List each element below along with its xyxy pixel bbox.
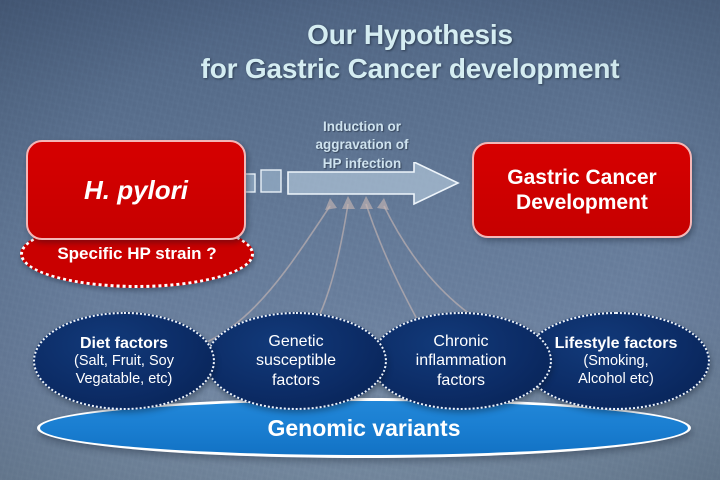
factor-diet-line-1: Diet factors bbox=[80, 334, 168, 354]
hpylori-box[interactable]: H. pylori bbox=[26, 140, 246, 240]
factor-ellipse-inflammation[interactable]: Chronic inflammation factors bbox=[370, 312, 552, 410]
arrow-dash-segment-1 bbox=[245, 174, 255, 192]
title-line-1: Our Hypothesis bbox=[100, 18, 720, 52]
factor-ellipse-diet[interactable]: Diet factors (Salt, Fruit, Soy Vegatable… bbox=[33, 312, 215, 410]
factor-lifestyle-line-3: Alcohol etc) bbox=[578, 371, 654, 389]
arrow-label-line-2: aggravation of bbox=[295, 136, 429, 154]
arrow-dash-segment-2 bbox=[261, 170, 281, 192]
factor-ellipse-genetic[interactable]: Genetic susceptible factors bbox=[205, 312, 387, 410]
factor-genetic-line-1: Genetic bbox=[268, 332, 323, 352]
arrow-label-line-3: HP infection bbox=[295, 155, 429, 173]
factor-diet-line-3: Vegatable, etc) bbox=[76, 371, 173, 389]
factor-inflammation-line-1: Chronic bbox=[433, 332, 488, 352]
factor-genetic-line-2: susceptible bbox=[256, 351, 336, 371]
factor-lifestyle-line-2: (Smoking, bbox=[583, 353, 648, 371]
factor-genetic-line-3: factors bbox=[272, 371, 320, 391]
factor-lifestyle-line-1: Lifestyle factors bbox=[555, 334, 678, 354]
cancer-box-line-1: Gastric Cancer bbox=[507, 165, 656, 190]
slide-canvas: Our Hypothesis for Gastric Cancer develo… bbox=[0, 0, 720, 480]
arrow-label-line-1: Induction or bbox=[295, 118, 429, 136]
cancer-box-line-2: Development bbox=[507, 190, 656, 215]
gastric-cancer-box[interactable]: Gastric Cancer Development bbox=[472, 142, 692, 238]
arrow-label: Induction or aggravation of HP infection bbox=[295, 118, 429, 173]
factor-diet-line-2: (Salt, Fruit, Soy bbox=[74, 353, 174, 371]
title-line-2: for Gastric Cancer development bbox=[100, 52, 720, 86]
factor-inflammation-line-3: factors bbox=[437, 371, 485, 391]
page-title: Our Hypothesis for Gastric Cancer develo… bbox=[100, 18, 720, 87]
factor-inflammation-line-2: inflammation bbox=[416, 351, 507, 371]
